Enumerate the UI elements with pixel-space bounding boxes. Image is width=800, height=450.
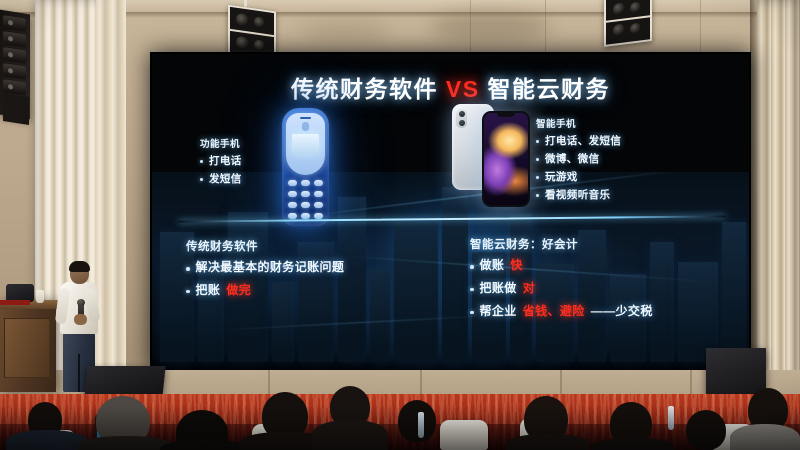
bullet-dot: [470, 311, 474, 315]
bullet-dot: [186, 267, 190, 271]
slide-title-right: 智能云财务: [487, 76, 610, 102]
wall-array-speaker-lower: [3, 93, 29, 125]
bullet-dot: [200, 178, 203, 181]
bullet-text-tail: ——少交税: [591, 305, 653, 319]
lectern-front-panel: [4, 318, 50, 378]
audience-head: [686, 410, 726, 450]
presentation-photo-scene: 传统财务软件 VS 智能云财务 功能手机 打电话 发短信: [0, 0, 800, 450]
wall-smudge: [430, 12, 550, 42]
bullet-text-highlight: 做完: [226, 284, 251, 298]
bullet-text: 微博、微信: [545, 153, 600, 165]
stage-post: [268, 370, 270, 396]
presentation-slide: 传统财务软件 VS 智能云财务 功能手机 打电话 发短信: [152, 54, 749, 370]
chair: [440, 420, 488, 450]
list-item: 把账做完: [186, 284, 486, 298]
slide-section-feature-phone: 功能手机 打电话 发短信: [200, 136, 320, 191]
wall-smudge: [300, 20, 390, 42]
list-item: 做账快: [470, 259, 745, 273]
bullet-dot: [186, 290, 190, 294]
bullet-dot: [536, 140, 539, 143]
water-bottle: [668, 406, 674, 430]
list-item: 发短信: [200, 173, 320, 185]
bullet-dot: [536, 158, 539, 161]
bullet-text-highlight: 对: [523, 282, 535, 296]
audience-head: [398, 400, 436, 442]
slide-section-traditional-software: 传统财务软件 解决最基本的财务记账问题 把账做完: [186, 238, 486, 307]
slide-title: 传统财务软件 VS 智能云财务: [152, 70, 749, 104]
bullet-dot: [470, 288, 474, 292]
bullet-dot: [470, 265, 474, 269]
traditional-software-heading: 传统财务软件: [186, 238, 486, 254]
list-item: 帮企业省钱、避险——少交税: [470, 305, 745, 319]
slide-title-vs: VS: [446, 76, 480, 102]
bullet-text-highlight: 快: [510, 259, 522, 273]
list-item: 把账做对: [470, 282, 745, 296]
lectern-red-band: [0, 300, 30, 305]
smartphone-heading: 智能手机: [536, 116, 736, 130]
audience-shoulders: [730, 424, 800, 450]
water-bottle: [418, 412, 424, 438]
bullet-dot: [200, 160, 203, 163]
stage-post: [560, 370, 562, 396]
audience-shoulders: [506, 434, 590, 450]
bullet-text: 把账做: [480, 282, 517, 296]
smartphone-front-image: [482, 111, 530, 207]
bullet-text: 打电话: [209, 155, 242, 167]
cloud-finance-heading: 智能云财务：好会计: [470, 236, 745, 252]
ceiling-speaker-right: [604, 0, 652, 47]
bullet-text: 帮企业: [480, 305, 517, 319]
list-item: 打电话、发短信: [536, 135, 736, 147]
slide-section-smartphone: 智能手机 打电话、发短信 微博、微信 玩游戏 看视频听音乐: [536, 116, 736, 207]
feature-phone-heading: 功能手机: [200, 136, 320, 150]
list-item: 解决最基本的财务记账问题: [186, 261, 486, 275]
audience-shoulders: [312, 420, 388, 450]
stage-post: [690, 370, 692, 396]
slide-title-left: 传统财务软件: [291, 76, 438, 102]
bullet-dot: [536, 194, 539, 197]
list-item: 微博、微信: [536, 153, 736, 165]
slide-section-cloud-finance: 智能云财务：好会计 做账快 把账做对 帮企业省钱、避险——少交税: [470, 236, 745, 327]
audience-shoulders: [6, 430, 88, 450]
bullet-text: 玩游戏: [545, 171, 578, 183]
bullet-text: 发短信: [209, 173, 242, 185]
list-item: 玩游戏: [536, 171, 736, 183]
audience-shoulders: [592, 438, 674, 450]
lectern-cup: [36, 290, 44, 303]
curtain-right: [757, 0, 800, 392]
list-item: 看视频听音乐: [536, 189, 736, 201]
bullet-text: 解决最基本的财务记账问题: [196, 261, 345, 275]
bullet-dot: [536, 176, 539, 179]
list-item: 打电话: [200, 155, 320, 167]
stage-post: [420, 370, 422, 396]
bullet-text: 把账: [196, 284, 221, 298]
bullet-text: 做账: [480, 259, 505, 273]
bullet-text: 看视频听音乐: [545, 189, 610, 201]
audience-shoulders: [160, 440, 252, 450]
bullet-text-highlight: 省钱、避险: [523, 305, 585, 319]
bullet-text: 打电话、发短信: [545, 135, 621, 147]
